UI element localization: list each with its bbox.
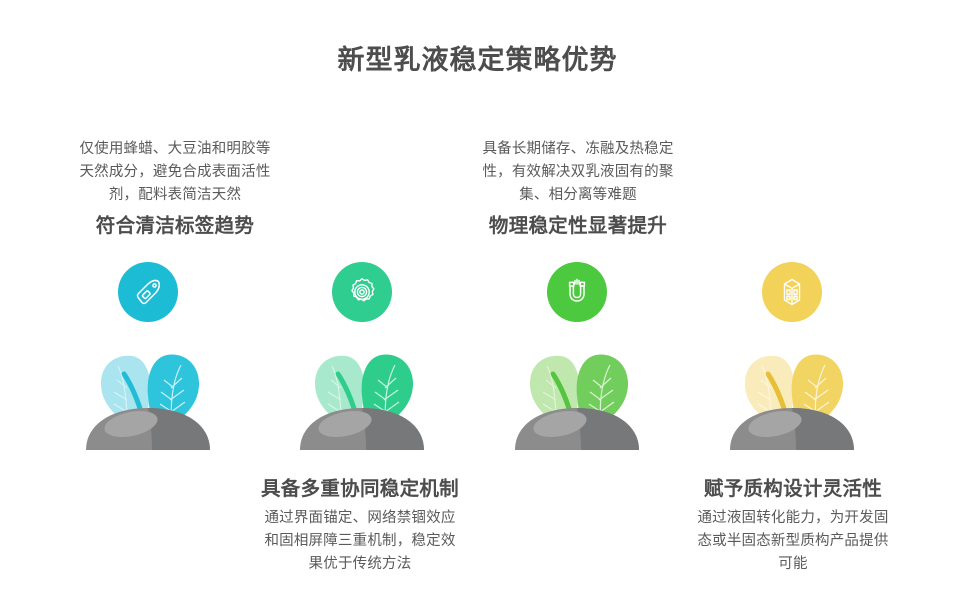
feature-block-bottom-left: 具备多重协同稳定机制 通过界面锚定、网络禁锢效应 和固相屏障三重机制，稳定效 果… [235,474,485,576]
description-line: 可能 [668,553,918,576]
description-line: 剂，配料表简洁天然 [50,184,300,207]
description-line: 果优于传统方法 [235,553,485,576]
icon-badge-mechanism[interactable] [332,262,392,322]
feature-description: 具备长期储存、冻融及热稳定 性，有效解决双乳液固有的聚 集、相分离等难题 [453,138,703,207]
soil-mound-shadow [148,408,210,450]
description-line: 通过界面锚定、网络禁锢效应 [235,507,485,530]
page-title: 新型乳液稳定策略优势 [0,38,955,77]
plant-art [477,320,677,450]
carton-box-icon [776,276,808,308]
feature-heading: 物理稳定性显著提升 [453,211,703,241]
plant-illustration-group-2 [262,262,462,452]
soil-mound-shadow [792,408,854,450]
feature-heading: 符合清洁标签趋势 [50,211,300,241]
feature-description: 仅使用蜂蜡、大豆油和明胶等 天然成分，避免合成表面活性 剂，配料表简洁天然 [50,138,300,207]
feature-block-bottom-right: 赋予质构设计灵活性 通过液固转化能力，为开发固 态或半固态新型质构产品提供 可能 [668,474,918,576]
description-line: 集、相分离等难题 [453,184,703,207]
plant-art [692,320,892,450]
magnet-icon [561,276,593,308]
soil-mound-shadow [362,408,424,450]
plant-art [48,320,248,450]
feature-heading: 赋予质构设计灵活性 [668,474,918,504]
plant-art [262,320,462,450]
description-line: 态或半固态新型质构产品提供 [668,530,918,553]
feature-description: 通过液固转化能力，为开发固 态或半固态新型质构产品提供 可能 [668,507,918,576]
description-line: 性，有效解决双乳液固有的聚 [453,161,703,184]
feature-block-top-left: 仅使用蜂蜡、大豆油和明胶等 天然成分，避免合成表面活性 剂，配料表简洁天然 符合… [50,138,300,241]
description-line: 仅使用蜂蜡、大豆油和明胶等 [50,138,300,161]
description-line: 和固相屏障三重机制，稳定效 [235,530,485,553]
plant-illustration-group-4 [692,262,892,452]
infographic-canvas: 新型乳液稳定策略优势 仅使用蜂蜡、大豆油和明胶等 天然成分，避免合成表面活性 剂… [0,0,955,603]
icon-badge-clean-label[interactable] [118,262,178,322]
soil-mound-shadow [577,408,639,450]
description-line: 具备长期储存、冻融及热稳定 [453,138,703,161]
feature-description: 通过界面锚定、网络禁锢效应 和固相屏障三重机制，稳定效 果优于传统方法 [235,507,485,576]
plant-illustration-group-3 [477,262,677,452]
icon-badge-stability[interactable] [547,262,607,322]
description-line: 天然成分，避免合成表面活性 [50,161,300,184]
feature-block-top-right: 具备长期储存、冻融及热稳定 性，有效解决双乳液固有的聚 集、相分离等难题 物理稳… [453,138,703,241]
gear-icon [346,276,378,308]
tag-icon [132,276,164,308]
feature-heading: 具备多重协同稳定机制 [235,474,485,504]
plant-illustration-group-1 [48,262,248,452]
icon-badge-texture[interactable] [762,262,822,322]
description-line: 通过液固转化能力，为开发固 [668,507,918,530]
